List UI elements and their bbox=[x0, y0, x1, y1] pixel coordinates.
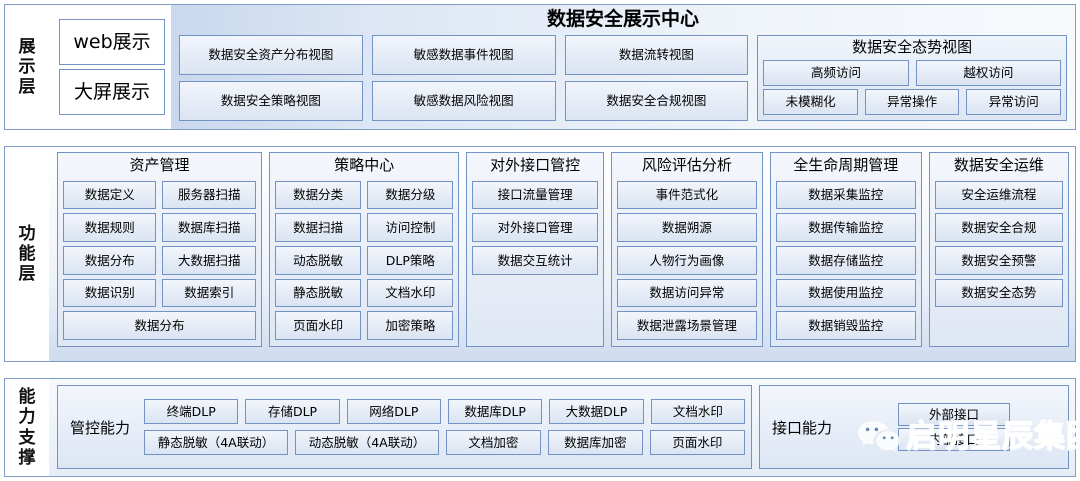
asset-data-distribution-wide[interactable]: 数据分布 bbox=[63, 311, 256, 340]
function-layer-label-char-2: 层 bbox=[19, 264, 36, 284]
api-interaction-statistics[interactable]: 数据交互统计 bbox=[472, 246, 597, 275]
risk-row-3: 人物行为画像 bbox=[617, 246, 757, 275]
asset-row-3: 数据分布 大数据扫描 bbox=[63, 246, 256, 275]
asset-data-identification[interactable]: 数据识别 bbox=[63, 279, 156, 308]
display-main-panel: 数据安全展示中心 数据安全资产分布视图 数据安全策略视图 敏感数据事件视图 敏感… bbox=[171, 5, 1075, 129]
risk-leak-scenario-management[interactable]: 数据泄露场景管理 bbox=[617, 311, 757, 340]
risk-row-2: 数据朔源 bbox=[617, 213, 757, 242]
situation-privilege-escalation-access[interactable]: 越权访问 bbox=[916, 60, 1061, 86]
risk-data-lineage[interactable]: 数据朔源 bbox=[617, 213, 757, 242]
policy-row-2: 数据扫描 访问控制 bbox=[275, 213, 453, 242]
api-row-1: 接口流量管理 bbox=[472, 181, 597, 210]
display-layer-label: 展 示 层 bbox=[5, 5, 49, 129]
life-usage-monitoring[interactable]: 数据使用监控 bbox=[776, 279, 916, 308]
policy-data-scan[interactable]: 数据扫描 bbox=[275, 213, 361, 242]
ops-row-4: 数据安全态势 bbox=[935, 279, 1063, 308]
group-title-lifecycle-management: 全生命周期管理 bbox=[776, 155, 916, 177]
asset-data-rules[interactable]: 数据规则 bbox=[63, 213, 156, 242]
iface-external[interactable]: 外部接口 bbox=[898, 403, 1010, 426]
display-column-3: 数据流转视图 数据安全合规视图 bbox=[565, 35, 749, 121]
function-layer-label: 功 能 层 bbox=[5, 147, 49, 361]
situation-abnormal-operation[interactable]: 异常操作 bbox=[865, 89, 960, 115]
display-column-2: 敏感数据事件视图 敏感数据风险视图 bbox=[372, 35, 556, 121]
display-layer-body: web展示 大屏展示 数据安全展示中心 数据安全资产分布视图 数据安全策略视图 … bbox=[49, 5, 1075, 129]
life-storage-monitoring[interactable]: 数据存储监控 bbox=[776, 246, 916, 275]
display-channel-bigscreen[interactable]: 大屏展示 bbox=[59, 69, 165, 115]
life-row-5: 数据销毁监控 bbox=[776, 311, 916, 340]
policy-dynamic-masking[interactable]: 动态脱敏 bbox=[275, 246, 361, 275]
cap-static-masking-4a[interactable]: 静态脱敏（4A联动） bbox=[144, 430, 288, 455]
control-capability-label: 管控能力 bbox=[64, 417, 136, 438]
ops-row-1: 安全运维流程 bbox=[935, 181, 1063, 210]
policy-document-watermark[interactable]: 文档水印 bbox=[367, 279, 453, 308]
life-destruction-monitoring[interactable]: 数据销毁监控 bbox=[776, 311, 916, 340]
policy-access-control[interactable]: 访问控制 bbox=[367, 213, 453, 242]
ops-compliance[interactable]: 数据安全合规 bbox=[935, 213, 1063, 242]
asset-bigdata-scan[interactable]: 大数据扫描 bbox=[162, 246, 255, 275]
api-row-2: 对外接口管理 bbox=[472, 213, 597, 242]
situation-row-2: 未模糊化 异常操作 异常访问 bbox=[763, 89, 1061, 115]
situation-panel-title: 数据安全态势视图 bbox=[763, 38, 1061, 58]
capability-layer-label-char-3: 撑 bbox=[19, 448, 36, 468]
capability-layer-label-char-0: 能 bbox=[19, 387, 36, 407]
policy-data-grading[interactable]: 数据分级 bbox=[367, 181, 453, 210]
page-title: 数据安全展示中心 bbox=[179, 7, 1067, 32]
control-row-1: 终端DLP 存储DLP 网络DLP 数据库DLP 大数据DLP 文档水印 bbox=[144, 399, 745, 424]
control-capability-rows: 终端DLP 存储DLP 网络DLP 数据库DLP 大数据DLP 文档水印 静态脱… bbox=[144, 399, 745, 455]
policy-dlp-policy[interactable]: DLP策略 bbox=[367, 246, 453, 275]
ops-row-2: 数据安全合规 bbox=[935, 213, 1063, 242]
risk-abnormal-data-access[interactable]: 数据访问异常 bbox=[617, 279, 757, 308]
cap-database-encryption[interactable]: 数据库加密 bbox=[548, 430, 643, 455]
situation-view-panel: 数据安全态势视图 高频访问 越权访问 未模糊化 异常操作 异常访问 bbox=[757, 35, 1067, 121]
display-column-1: 数据安全资产分布视图 数据安全策略视图 bbox=[179, 35, 363, 121]
cap-document-encryption[interactable]: 文档加密 bbox=[446, 430, 541, 455]
group-title-security-operations: 数据安全运维 bbox=[935, 155, 1063, 177]
function-group-policy-center: 策略中心 数据分类 数据分级 数据扫描 访问控制 动态脱敏 DLP策略 静态脱敏… bbox=[269, 152, 459, 347]
display-layer-label-char-1: 示 bbox=[19, 57, 36, 77]
ops-row-3: 数据安全预警 bbox=[935, 246, 1063, 275]
life-row-1: 数据采集监控 bbox=[776, 181, 916, 210]
asset-row-4: 数据识别 数据索引 bbox=[63, 279, 256, 308]
api-traffic-management[interactable]: 接口流量管理 bbox=[472, 181, 597, 210]
cap-network-dlp[interactable]: 网络DLP bbox=[347, 399, 441, 424]
asset-row-5: 数据分布 bbox=[63, 311, 256, 340]
policy-row-3: 动态脱敏 DLP策略 bbox=[275, 246, 453, 275]
view-sensitive-risk[interactable]: 敏感数据风险视图 bbox=[372, 81, 556, 121]
cap-document-watermark[interactable]: 文档水印 bbox=[651, 399, 745, 424]
situation-unmasked[interactable]: 未模糊化 bbox=[763, 89, 858, 115]
risk-event-normalization[interactable]: 事件范式化 bbox=[617, 181, 757, 210]
policy-row-1: 数据分类 数据分级 bbox=[275, 181, 453, 210]
policy-page-watermark[interactable]: 页面水印 bbox=[275, 311, 361, 340]
group-title-risk-assessment: 风险评估分析 bbox=[617, 155, 757, 177]
risk-behavior-profiling[interactable]: 人物行为画像 bbox=[617, 246, 757, 275]
view-compliance[interactable]: 数据安全合规视图 bbox=[565, 81, 749, 121]
function-group-asset-management: 资产管理 数据定义 服务器扫描 数据规则 数据库扫描 数据分布 大数据扫描 数据… bbox=[57, 152, 262, 347]
asset-data-distribution[interactable]: 数据分布 bbox=[63, 246, 156, 275]
asset-data-index[interactable]: 数据索引 bbox=[162, 279, 255, 308]
api-row-spacer-2 bbox=[472, 311, 597, 340]
function-layer: 功 能 层 资产管理 数据定义 服务器扫描 数据规则 数据库扫描 数据分布 大数… bbox=[4, 146, 1076, 362]
control-row-2: 静态脱敏（4A联动） 动态脱敏（4A联动） 文档加密 数据库加密 页面水印 bbox=[144, 430, 745, 455]
group-title-external-interface-control: 对外接口管控 bbox=[472, 155, 597, 177]
api-row-spacer-1 bbox=[472, 279, 597, 308]
policy-row-5: 页面水印 加密策略 bbox=[275, 311, 453, 340]
display-layer-label-char-2: 层 bbox=[19, 77, 36, 97]
capability-layer-body: 管控能力 终端DLP 存储DLP 网络DLP 数据库DLP 大数据DLP 文档水… bbox=[49, 379, 1075, 476]
api-row-3: 数据交互统计 bbox=[472, 246, 597, 275]
cap-storage-dlp[interactable]: 存储DLP bbox=[245, 399, 339, 424]
function-group-external-interface-control: 对外接口管控 接口流量管理 对外接口管理 数据交互统计 bbox=[466, 152, 603, 347]
display-channel-group: web展示 大屏展示 bbox=[49, 5, 171, 129]
external-interface-items: 接口流量管理 对外接口管理 数据交互统计 bbox=[472, 181, 597, 340]
function-layer-label-char-0: 功 bbox=[19, 224, 36, 244]
risk-row-5: 数据泄露场景管理 bbox=[617, 311, 757, 340]
policy-encryption-policy[interactable]: 加密策略 bbox=[367, 311, 453, 340]
cap-database-dlp[interactable]: 数据库DLP bbox=[448, 399, 542, 424]
ops-security-workflow[interactable]: 安全运维流程 bbox=[935, 181, 1063, 210]
risk-row-1: 事件范式化 bbox=[617, 181, 757, 210]
life-row-2: 数据传输监控 bbox=[776, 213, 916, 242]
cap-endpoint-dlp[interactable]: 终端DLP bbox=[144, 399, 238, 424]
ops-row-spacer bbox=[935, 311, 1063, 340]
situation-abnormal-access[interactable]: 异常访问 bbox=[966, 89, 1061, 115]
function-group-security-operations: 数据安全运维 安全运维流程 数据安全合规 数据安全预警 数据安全态势 bbox=[929, 152, 1069, 347]
lifecycle-items: 数据采集监控 数据传输监控 数据存储监控 数据使用监控 数据销毁监控 bbox=[776, 181, 916, 340]
policy-row-4: 静态脱敏 文档水印 bbox=[275, 279, 453, 308]
iface-internal[interactable]: 内部接口 bbox=[898, 428, 1010, 451]
function-layer-label-char-1: 能 bbox=[19, 244, 36, 264]
life-row-3: 数据存储监控 bbox=[776, 246, 916, 275]
risk-assessment-items: 事件范式化 数据朔源 人物行为画像 数据访问异常 数据泄露场景管理 bbox=[617, 181, 757, 340]
cap-dynamic-masking-4a[interactable]: 动态脱敏（4A联动） bbox=[295, 430, 439, 455]
ops-early-warning[interactable]: 数据安全预警 bbox=[935, 246, 1063, 275]
view-asset-distribution[interactable]: 数据安全资产分布视图 bbox=[179, 35, 363, 75]
security-operations-items: 安全运维流程 数据安全合规 数据安全预警 数据安全态势 bbox=[935, 181, 1063, 340]
cap-bigdata-dlp[interactable]: 大数据DLP bbox=[549, 399, 643, 424]
policy-data-classification[interactable]: 数据分类 bbox=[275, 181, 361, 210]
asset-data-definition[interactable]: 数据定义 bbox=[63, 181, 156, 210]
risk-row-4: 数据访问异常 bbox=[617, 279, 757, 308]
interface-capability-panel: 接口能力 外部接口 内部接口 bbox=[759, 385, 1069, 469]
group-title-asset-management: 资产管理 bbox=[63, 155, 256, 177]
capability-layer-label: 能 力 支 撑 bbox=[5, 379, 49, 476]
asset-database-scan[interactable]: 数据库扫描 bbox=[162, 213, 255, 242]
capability-layer-label-char-1: 力 bbox=[19, 407, 36, 427]
cap-page-watermark[interactable]: 页面水印 bbox=[650, 430, 745, 455]
situation-high-frequency-access[interactable]: 高频访问 bbox=[763, 60, 908, 86]
asset-server-scan[interactable]: 服务器扫描 bbox=[162, 181, 255, 210]
capability-layer: 能 力 支 撑 管控能力 终端DLP 存储DLP 网络DLP 数据库DLP 大数… bbox=[4, 378, 1076, 477]
api-external-management[interactable]: 对外接口管理 bbox=[472, 213, 597, 242]
ops-situation-awareness[interactable]: 数据安全态势 bbox=[935, 279, 1063, 308]
life-collection-monitoring[interactable]: 数据采集监控 bbox=[776, 181, 916, 210]
interface-capability-label: 接口能力 bbox=[766, 417, 838, 438]
view-security-policy[interactable]: 数据安全策略视图 bbox=[179, 81, 363, 121]
interface-capability-items: 外部接口 内部接口 bbox=[846, 403, 1062, 451]
display-layer: 展 示 层 web展示 大屏展示 数据安全展示中心 数据安全资产分布视图 数据安… bbox=[4, 4, 1076, 130]
policy-center-items: 数据分类 数据分级 数据扫描 访问控制 动态脱敏 DLP策略 静态脱敏 文档水印… bbox=[275, 181, 453, 340]
function-layer-body: 资产管理 数据定义 服务器扫描 数据规则 数据库扫描 数据分布 大数据扫描 数据… bbox=[49, 147, 1075, 361]
policy-static-masking[interactable]: 静态脱敏 bbox=[275, 279, 361, 308]
asset-row-2: 数据规则 数据库扫描 bbox=[63, 213, 256, 242]
function-group-lifecycle-management: 全生命周期管理 数据采集监控 数据传输监控 数据存储监控 数据使用监控 数据销毁… bbox=[770, 152, 922, 347]
view-data-flow[interactable]: 数据流转视图 bbox=[565, 35, 749, 75]
display-layer-label-char-0: 展 bbox=[19, 37, 36, 57]
group-title-policy-center: 策略中心 bbox=[275, 155, 453, 177]
asset-management-items: 数据定义 服务器扫描 数据规则 数据库扫描 数据分布 大数据扫描 数据识别 数据… bbox=[63, 181, 256, 340]
view-sensitive-event[interactable]: 敏感数据事件视图 bbox=[372, 35, 556, 75]
control-capability-panel: 管控能力 终端DLP 存储DLP 网络DLP 数据库DLP 大数据DLP 文档水… bbox=[57, 385, 752, 469]
capability-layer-label-char-2: 支 bbox=[19, 428, 36, 448]
display-channel-web[interactable]: web展示 bbox=[59, 19, 165, 65]
situation-row-1: 高频访问 越权访问 bbox=[763, 60, 1061, 86]
life-row-4: 数据使用监控 bbox=[776, 279, 916, 308]
life-transmission-monitoring[interactable]: 数据传输监控 bbox=[776, 213, 916, 242]
function-group-risk-assessment: 风险评估分析 事件范式化 数据朔源 人物行为画像 数据访问异常 数据泄露场景管理 bbox=[611, 152, 763, 347]
asset-row-1: 数据定义 服务器扫描 bbox=[63, 181, 256, 210]
display-view-grid: 数据安全资产分布视图 数据安全策略视图 敏感数据事件视图 敏感数据风险视图 数据… bbox=[179, 32, 1067, 123]
